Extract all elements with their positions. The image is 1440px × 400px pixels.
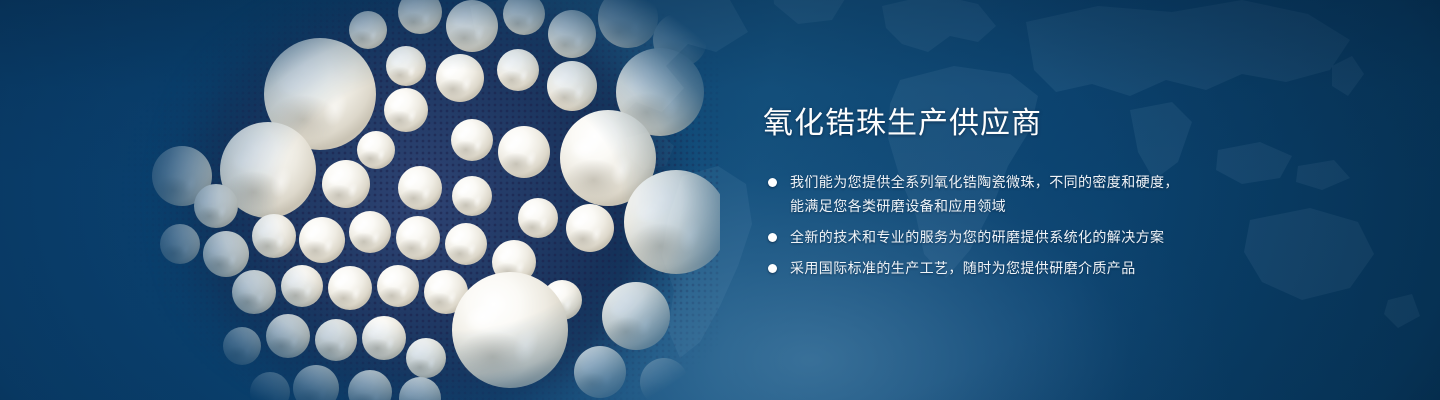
- bullet-item: 全新的技术和专业的服务为您的研磨提供系统化的解决方案: [763, 225, 1233, 249]
- bullet-dot-icon: [768, 264, 777, 273]
- bullet-item: 我们能为您提供全系列氧化锆陶瓷微珠，不同的密度和硬度， 能满足您各类研磨设备和应…: [763, 170, 1233, 218]
- bullet-item: 采用国际标准的生产工艺，随时为您提供研磨介质产品: [763, 256, 1233, 280]
- bullet-line: 我们能为您提供全系列氧化锆陶瓷微珠，不同的密度和硬度，: [790, 170, 1233, 194]
- banner-copy: 氧化锆珠生产供应商 我们能为您提供全系列氧化锆陶瓷微珠，不同的密度和硬度， 能满…: [763, 104, 1233, 280]
- bullet-dot-icon: [768, 178, 777, 187]
- bullet-dot-icon: [768, 233, 777, 242]
- bullet-line: 能满足您各类研磨设备和应用领域: [790, 194, 1233, 218]
- hero-banner: 氧化锆珠生产供应商 我们能为您提供全系列氧化锆陶瓷微珠，不同的密度和硬度， 能满…: [0, 0, 1440, 400]
- banner-headline: 氧化锆珠生产供应商: [763, 104, 1233, 144]
- banner-bullet-list: 我们能为您提供全系列氧化锆陶瓷微珠，不同的密度和硬度， 能满足您各类研磨设备和应…: [763, 170, 1233, 280]
- bullet-line: 全新的技术和专业的服务为您的研磨提供系统化的解决方案: [790, 225, 1233, 249]
- bullet-line: 采用国际标准的生产工艺，随时为您提供研磨介质产品: [790, 256, 1233, 280]
